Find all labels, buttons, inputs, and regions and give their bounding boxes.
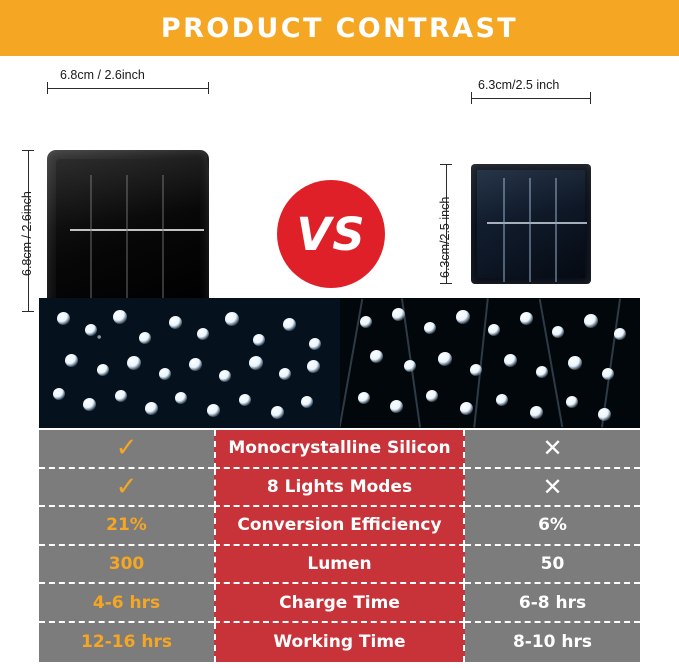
led-dot — [57, 312, 70, 325]
led-dot — [307, 360, 320, 373]
led-dot — [207, 404, 220, 417]
led-dot — [438, 352, 452, 366]
led-dot — [85, 324, 97, 336]
others-height-label: 6.3cm/2.5 inch — [438, 197, 452, 278]
led-dot — [370, 350, 383, 363]
check-icon: ✓ — [116, 474, 138, 500]
vs-badge: VS — [277, 180, 385, 288]
led-dot — [390, 400, 403, 413]
led-dot — [530, 406, 543, 419]
led-dot — [424, 322, 436, 334]
wire-line — [340, 299, 363, 427]
led-dot — [536, 366, 548, 378]
led-dot — [566, 396, 578, 408]
spec-comparison-table: ✓ Monocrystalline Silicon ✕ ✓ 8 Lights M… — [39, 430, 640, 662]
ours-value-cell: 4-6 hrs — [39, 584, 214, 623]
table-row: 21% Conversion Efficiency 6% — [39, 507, 640, 546]
product-contrast-infographic: PRODUCT CONTRAST 6.8cm / 2.6inch 6.8cm /… — [0, 0, 679, 668]
table-row: 4-6 hrs Charge Time 6-8 hrs — [39, 584, 640, 623]
feature-label: Conversion Efficiency — [214, 507, 465, 546]
others-lights-photo — [340, 298, 641, 428]
feature-label: Lumen — [214, 546, 465, 585]
ours-width-guide-line — [47, 88, 209, 89]
others-value-cell: 8-10 hrs — [465, 623, 640, 662]
led-dot — [358, 392, 370, 404]
panel-comparison-area: 6.8cm / 2.6inch 6.8cm / 2.6inch OURS VS … — [0, 56, 679, 294]
feature-label: 8 Lights Modes — [214, 469, 465, 508]
others-width-guide-line — [471, 98, 591, 99]
led-dot — [360, 316, 372, 328]
led-dot — [552, 326, 564, 338]
photo-strip — [39, 298, 640, 428]
table-row: ✓ Monocrystalline Silicon ✕ — [39, 430, 640, 469]
table-row: 12-16 hrs Working Time 8-10 hrs — [39, 623, 640, 662]
others-value-cell: ✕ — [465, 430, 640, 469]
led-dot — [113, 310, 127, 324]
ours-height-label: 6.8cm / 2.6inch — [20, 191, 34, 276]
cross-icon: ✕ — [542, 475, 562, 499]
led-dot — [496, 394, 508, 406]
led-dot — [584, 314, 598, 328]
others-value-cell: ✕ — [465, 469, 640, 508]
ours-width-label: 6.8cm / 2.6inch — [60, 68, 145, 82]
led-dot — [283, 318, 296, 331]
table-row: 300 Lumen 50 — [39, 546, 640, 585]
led-dot — [159, 368, 171, 380]
led-dot — [239, 394, 251, 406]
led-dot — [127, 356, 141, 370]
led-dot — [309, 338, 321, 350]
led-dot — [602, 368, 614, 380]
ours-value-cell: 21% — [39, 507, 214, 546]
vs-badge-label: VS — [296, 208, 365, 261]
led-dot — [219, 370, 231, 382]
others-value-cell: 6% — [465, 507, 640, 546]
led-dot — [426, 390, 438, 402]
wire-line — [473, 298, 489, 427]
feature-label: Working Time — [214, 623, 465, 662]
led-dot — [253, 334, 265, 346]
led-dot — [197, 328, 209, 340]
table-row: ✓ 8 Lights Modes ✕ — [39, 469, 640, 508]
led-dot — [175, 392, 187, 404]
ours-lights-photo — [39, 298, 340, 428]
feature-label: Charge Time — [214, 584, 465, 623]
led-dot — [470, 364, 482, 376]
led-dot — [568, 356, 582, 370]
ours-value-cell: 300 — [39, 546, 214, 585]
header-banner: PRODUCT CONTRAST — [0, 0, 679, 56]
led-dot — [614, 328, 626, 340]
led-dot — [225, 312, 239, 326]
led-dot — [169, 316, 182, 329]
others-width-label: 6.3cm/2.5 inch — [478, 78, 559, 92]
ours-value-cell: ✓ — [39, 430, 214, 469]
led-dot — [404, 360, 416, 372]
ours-value-cell: 12-16 hrs — [39, 623, 214, 662]
led-dot — [189, 358, 202, 371]
led-dot — [53, 388, 65, 400]
led-dot — [598, 408, 611, 421]
led-dot — [271, 406, 284, 419]
led-dot — [392, 308, 405, 321]
cross-icon: ✕ — [542, 436, 562, 460]
check-icon: ✓ — [116, 435, 138, 461]
ours-solar-panel-image — [47, 150, 209, 312]
others-value-cell: 50 — [465, 546, 640, 585]
led-dot — [460, 402, 473, 415]
others-value-cell: 6-8 hrs — [465, 584, 640, 623]
others-busbar-h — [487, 222, 587, 224]
feature-label: Monocrystalline Silicon — [214, 430, 465, 469]
led-dot — [504, 354, 517, 367]
led-dot — [65, 354, 78, 367]
ours-value-cell: ✓ — [39, 469, 214, 508]
led-dot — [488, 324, 500, 336]
led-dot — [139, 332, 151, 344]
led-dot — [97, 364, 109, 376]
led-dot — [520, 312, 533, 325]
led-dot — [115, 390, 127, 402]
page-title: PRODUCT CONTRAST — [161, 13, 518, 44]
led-dot — [301, 396, 313, 408]
led-dot — [456, 310, 470, 324]
led-dot — [145, 402, 158, 415]
led-dot — [83, 398, 96, 411]
others-solar-panel-image — [471, 164, 591, 284]
led-dot — [249, 356, 263, 370]
led-dot — [279, 368, 291, 380]
